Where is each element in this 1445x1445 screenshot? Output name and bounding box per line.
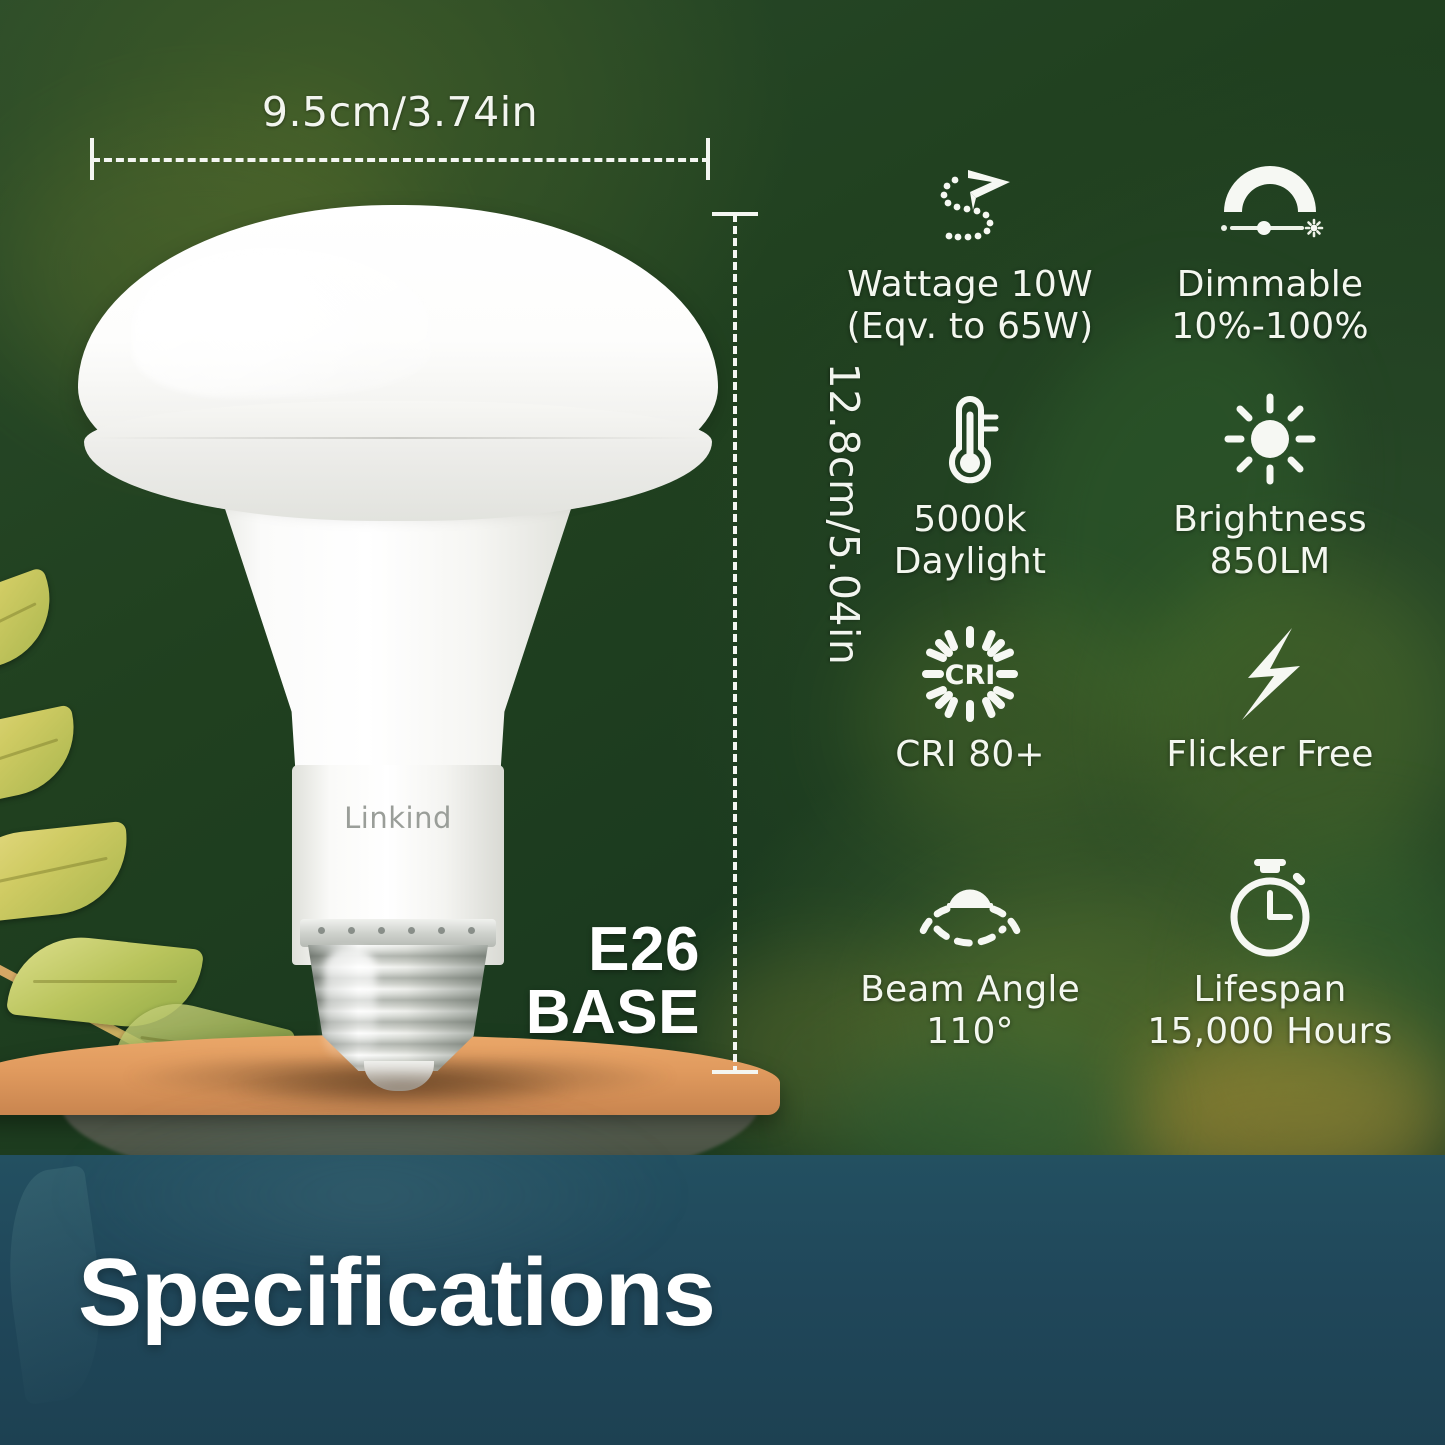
product-infographic: Linkind 9.5cm/3.74in 12.8cm/5.04in E26 B…: [0, 0, 1445, 1445]
leaf: [0, 704, 86, 814]
feature-brightness-label: Brightness 850LM: [1173, 499, 1367, 583]
feature-grid: Wattage 10W (Eqv. to 65W): [820, 150, 1420, 1090]
dimmable-dial-icon: [1214, 150, 1326, 258]
height-dimension-cap-bottom: [712, 1070, 758, 1074]
beam-angle-icon: [911, 855, 1029, 963]
feature-wattage-line2: (Eqv. to 65W): [847, 306, 1094, 348]
feature-beam-angle-label: Beam Angle 110°: [860, 969, 1080, 1053]
feature-lifespan-line2: 15,000 Hours: [1147, 1011, 1392, 1053]
feature-dimmable: Dimmable 10%-100%: [1120, 150, 1420, 385]
width-dimension-cap-right: [706, 138, 710, 180]
stopwatch-icon: [1216, 855, 1324, 963]
feature-cri-label: CRI 80+: [895, 734, 1045, 776]
thermometer-icon: [918, 385, 1022, 493]
width-dimension-label: 9.5cm/3.74in: [90, 88, 710, 136]
lightning-bolt-icon: [1218, 620, 1322, 728]
feature-brightness-line1: Brightness: [1173, 499, 1367, 541]
feature-cri: CRI CRI 80+: [820, 620, 1120, 855]
feature-dimmable-label: Dimmable 10%-100%: [1171, 264, 1369, 348]
e26-base-callout: E26 BASE: [420, 918, 700, 1044]
feature-flicker-free-label: Flicker Free: [1166, 734, 1373, 776]
screw-highlight: [324, 949, 376, 1059]
page-title: Specifications: [78, 1238, 715, 1348]
feature-lifespan-line1: Lifespan: [1147, 969, 1392, 1011]
bulb-seam-line: [96, 437, 700, 439]
feature-beam-angle-line1: Beam Angle: [860, 969, 1080, 1011]
e26-callout-line1: E26: [420, 918, 700, 981]
feature-flicker-free: Flicker Free: [1120, 620, 1420, 855]
width-dimension-line: [92, 158, 710, 162]
feature-color-temperature-line2: Daylight: [894, 541, 1046, 583]
feature-beam-angle: Beam Angle 110°: [820, 855, 1120, 1090]
height-dimension-cap-top: [712, 212, 758, 216]
e26-callout-line2: BASE: [420, 981, 700, 1044]
feature-color-temperature-line1: 5000k: [894, 499, 1046, 541]
cri-burst-icon: CRI: [918, 620, 1022, 728]
height-dimension-line: [733, 214, 737, 1074]
brand-logo: Linkind: [292, 801, 504, 835]
feature-dimmable-line1: Dimmable: [1171, 264, 1369, 306]
feature-color-temperature-label: 5000k Daylight: [894, 499, 1046, 583]
feature-flicker-free-line1: Flicker Free: [1166, 734, 1373, 776]
feature-wattage-line1: Wattage 10W: [847, 264, 1094, 306]
cri-icon-text: CRI: [945, 660, 996, 691]
feature-dimmable-line2: 10%-100%: [1171, 306, 1369, 348]
feature-lifespan: Lifespan 15,000 Hours: [1120, 855, 1420, 1090]
width-dimension-cap-left: [90, 138, 94, 180]
sun-brightness-icon: [1218, 385, 1322, 493]
feature-wattage: Wattage 10W (Eqv. to 65W): [820, 150, 1120, 385]
wattage-send-icon: [918, 150, 1022, 258]
feature-brightness: Brightness 850LM: [1120, 385, 1420, 620]
feature-cri-line1: CRI 80+: [895, 734, 1045, 776]
feature-color-temperature: 5000k Daylight: [820, 385, 1120, 620]
feature-beam-angle-line2: 110°: [860, 1011, 1080, 1053]
feature-brightness-line2: 850LM: [1173, 541, 1367, 583]
feature-lifespan-label: Lifespan 15,000 Hours: [1147, 969, 1392, 1053]
leaf: [0, 567, 69, 692]
bulb-dome-rim: [84, 401, 712, 521]
feature-wattage-label: Wattage 10W (Eqv. to 65W): [847, 264, 1094, 348]
